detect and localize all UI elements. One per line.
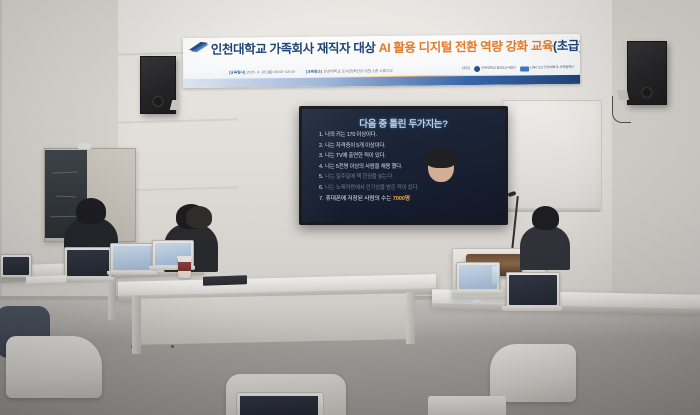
banner-date-tag: [교육일시] xyxy=(229,70,245,74)
desk-modesty-panel xyxy=(140,293,408,345)
audience-member-head xyxy=(186,206,212,228)
event-banner: 인천대학교 가족회사 재직자 대상 AI 활용 디지털 전환 역량 강화 교육(… xyxy=(183,34,581,88)
speaker-woofer-icon xyxy=(153,96,164,107)
audience-member-head xyxy=(76,198,106,224)
sponsor-logo-linc: LINC 3.0 인천대학교 산학협력단 xyxy=(520,65,574,71)
desk-leg xyxy=(108,278,116,320)
slide-item-text: 나는 TV에 출연한 적이 있다. xyxy=(325,153,386,159)
slide-title: 다음 중 틀린 두가지는? xyxy=(302,116,505,130)
slide-list-item: 6.나는 노래자랑에서 인기상을 받은 적이 있다. xyxy=(319,186,499,191)
slide-question-list: 1.나의 키는 170 이상이다. 2.나는 자격증이 5개 이상이다. 3.나… xyxy=(319,133,499,207)
desk-leg xyxy=(132,296,141,354)
inu-seal-icon xyxy=(474,66,480,72)
slide-item-number: 4. xyxy=(319,164,323,170)
banner-place-tag: [교육장소] xyxy=(306,70,322,74)
presentation-display: 다음 중 틀린 두가지는? 1.나의 키는 170 이상이다. 2.나는 자격증… xyxy=(299,106,508,225)
banner-title-level: (초급) xyxy=(553,39,580,53)
speaker-woofer-icon xyxy=(642,87,653,98)
linc-mark-icon xyxy=(520,66,529,71)
slide-item-number: 6. xyxy=(319,185,323,191)
slide-item-text: 나는 5천명 이상의 사람을 채용 했다. xyxy=(325,164,402,170)
slide-item-number: 3. xyxy=(319,153,323,159)
display-screen: 다음 중 틀린 두가지는? 1.나의 키는 170 이상이다. 2.나는 자격증… xyxy=(302,109,505,222)
slide-list-item: 4.나는 5천명 이상의 사람을 채용 했다. xyxy=(319,165,499,170)
laptop-base[interactable] xyxy=(502,306,562,311)
banner-title-highlight: AI 활용 디지털 전환 역량 강화 교육 xyxy=(378,39,553,55)
laptop-base[interactable] xyxy=(60,277,114,281)
slide-list-item: 5.나는 일주일에 책 한권을 읽는다. xyxy=(319,175,499,180)
slide-item-text: 나는 일주일에 책 한권을 읽는다. xyxy=(325,174,393,180)
coffee-cup-sleeve xyxy=(178,262,191,271)
banner-title-plain: 인천대학교 가족회사 재직자 대상 xyxy=(211,41,379,57)
coffee-cup-lid xyxy=(177,256,192,259)
slide-item-text: 휴대폰에 저장된 사람의 수는 xyxy=(325,196,392,202)
slide-item-text: 나는 자격증이 5개 이상이다. xyxy=(325,143,385,149)
chair xyxy=(490,344,576,402)
audience-member xyxy=(520,226,570,270)
laptop-base[interactable] xyxy=(107,271,157,275)
university-logo-icon xyxy=(188,41,210,53)
banner-place-value: 인천대학교 도서관(학산도서관) 2층 스튜디오 xyxy=(323,69,392,74)
banner-date-value: 2025. 4. 28.(월) 09:00~18:00 xyxy=(246,70,295,75)
laptop-lid[interactable] xyxy=(0,254,32,278)
laptop-lid[interactable] xyxy=(64,247,112,279)
slide-item-number: 5. xyxy=(319,174,323,180)
laptop-base[interactable] xyxy=(452,290,502,294)
water-bottle xyxy=(492,266,499,284)
slide-item-number: 1. xyxy=(319,132,323,138)
audience-member-head xyxy=(532,206,559,230)
slide-list-item: 3.나는 TV에 출연한 적이 있다. xyxy=(319,154,499,159)
sponsor-logo-inu: 인천대학교 링크3.0사업단 xyxy=(474,66,516,72)
laptop-screen xyxy=(509,275,557,305)
banner-title: 인천대학교 가족회사 재직자 대상 AI 활용 디지털 전환 역량 강화 교육(… xyxy=(211,39,574,58)
laptop-lid[interactable] xyxy=(428,396,506,415)
slide-item-text: 나는 노래자랑에서 인기상을 받은 적이 있다. xyxy=(325,185,418,191)
cabinet-top-object xyxy=(78,143,91,149)
slide-list-item: 1.나의 키는 170 이상이다. xyxy=(319,133,499,138)
banner-host-tag: [주관] xyxy=(462,67,470,71)
sponsor-two-label: LINC 3.0 인천대학교 산학협력단 xyxy=(530,66,574,70)
cabinet-handle[interactable] xyxy=(171,345,174,348)
slide-list-item: 2.나는 자격증이 5개 이상이다. xyxy=(319,144,499,149)
chair xyxy=(6,336,102,398)
presenter-hair xyxy=(425,148,457,168)
laptop-screen xyxy=(3,257,29,275)
slide-item-emphasis: 7000명 xyxy=(393,196,410,202)
laptop-screen xyxy=(240,396,318,415)
wall-speaker-right xyxy=(627,41,667,105)
computer-mouse[interactable] xyxy=(472,300,482,306)
laptop-screen xyxy=(113,246,153,270)
slide-item-number: 7. xyxy=(319,196,323,202)
desk-leg xyxy=(406,292,415,344)
slide-item-text: 나의 키는 170 이상이다. xyxy=(325,132,377,138)
paper-stack xyxy=(26,275,66,283)
slide-item-number: 2. xyxy=(319,143,323,149)
slide-list-item-highlighted: 7.휴대폰에 저장된 사람의 수는 7000명 xyxy=(319,197,499,202)
speaker-cable xyxy=(612,96,631,123)
laptop-lid[interactable] xyxy=(506,272,560,308)
laptop-screen xyxy=(67,250,109,276)
banner-sponsor-logos: [주관] 인천대학교 링크3.0사업단 LINC 3.0 인천대학교 산학협력단 xyxy=(462,65,574,72)
lecture-hall-photo: 인천대학교 가족회사 재직자 대상 AI 활용 디지털 전환 역량 강화 교육(… xyxy=(0,0,700,415)
notebook xyxy=(203,275,247,286)
sponsor-one-label: 인천대학교 링크3.0사업단 xyxy=(481,67,516,71)
